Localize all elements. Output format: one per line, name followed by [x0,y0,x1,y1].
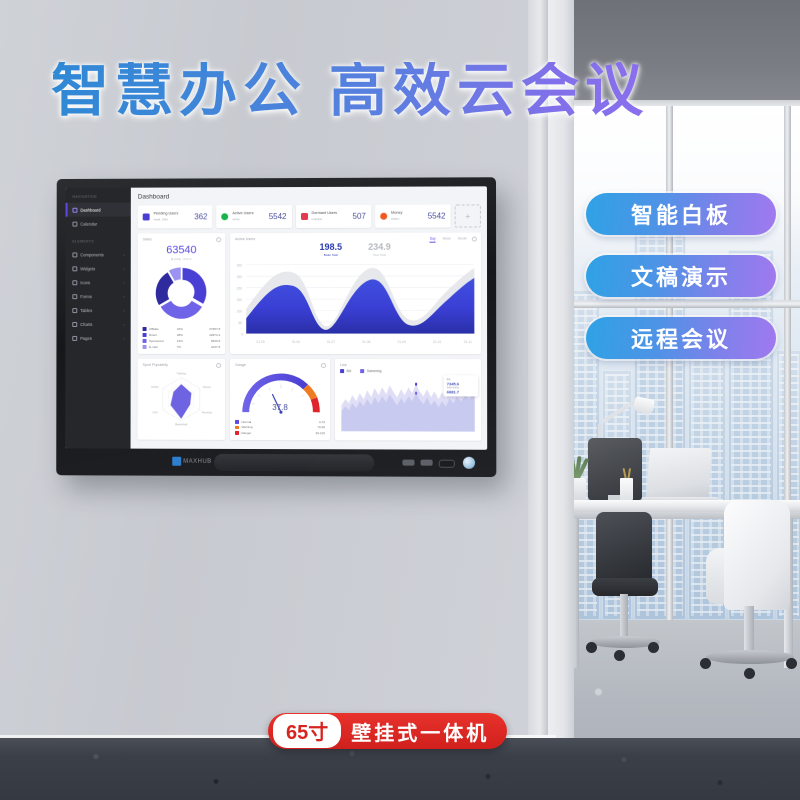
stat-sublabel: undefine [312,216,323,220]
legend-amount: 22874.4 [209,333,220,337]
stat-card-row: Pending Users Await. Offer 362 Active Us… [138,204,481,228]
usb-port-icon [402,460,414,466]
sidebar-item-label: Widgets [80,266,95,271]
pending-users-icon [143,213,150,220]
legend-label: Affiliate [149,327,177,331]
chair-caster [614,650,625,661]
legend-swatch [143,333,146,336]
stat-label: Money [391,211,402,215]
legend-amount: 4447.8 [211,345,220,349]
stat-value: 5542 [428,212,446,221]
svg-text:50: 50 [238,321,242,325]
sidebar-item-label: Components [80,252,103,257]
legend-label: Danger [241,431,251,435]
stat-value: 5542 [269,212,287,221]
dashboard-page-title: Dashboard [138,192,481,200]
gauge-value: 37.8 [230,403,330,412]
feature-pill-remote-meeting[interactable]: 远程会议 [586,317,776,359]
svg-text:01-08: 01-08 [362,340,370,344]
stat-label: Pending Users [154,212,179,216]
stat-sublabel: active [232,217,239,221]
legend-percent: 7% [177,345,193,349]
usb-port-icon [421,460,433,466]
svg-text:01-09: 01-09 [398,340,406,344]
kpi-boiler-total-value: 198.5 [319,243,342,252]
tab-week[interactable]: Week [443,237,451,243]
gear-icon[interactable] [216,237,221,242]
donut-subtitle: MORE INFO [143,257,221,261]
legend-amount: 8260.8 [211,339,220,343]
money-icon [380,213,387,220]
chevron-right-icon: › [123,280,124,285]
legend-swatch [360,369,364,373]
gear-icon[interactable] [472,237,477,242]
charts-icon [72,322,77,327]
svg-text:250: 250 [237,275,242,279]
components-icon [72,252,77,257]
legend-swatch [235,420,238,424]
chair-caster [744,668,755,679]
legend-swatch [143,327,146,330]
sidebar-item-dashboard[interactable]: Dashboard [66,203,131,217]
sidebar-item-pages[interactable]: Pages › [65,331,130,345]
sidebar-item-label: Forms [80,294,92,299]
sidebar-section-elements: ELEMENTS [65,239,130,247]
gear-icon[interactable] [321,363,326,368]
dashboard-app: NAVIGATION Dashboard Calendar ELEMENTS C… [65,186,487,449]
active-users-area-card: Active Users Day Week Month 198.5 Boil [230,233,481,355]
sidebar-item-label: Charts [80,322,92,327]
chair-caster [700,658,711,669]
legend-range: 70-90 [317,426,325,430]
sidebar-item-widgets[interactable]: Widgets › [65,261,130,275]
kpi-flow-total-value: 234.9 [368,243,391,252]
svg-text:01-10: 01-10 [433,340,441,344]
hdmi-port-icon [439,460,455,468]
office-chair-dark [596,512,652,582]
kpi-flow-total-label: Flow Total [368,253,391,257]
legend-range: 90-100 [316,431,325,435]
badge-type-label: 壁挂式一体机 [351,717,489,746]
tooltip-value-swimming: 6881.7 [447,389,475,394]
dashboard-main: Dashboard Pending Users Await. Offer 362 [131,186,488,449]
legend-range: 0-70 [319,420,325,424]
chevron-right-icon: › [123,308,124,313]
brand-logo-mark [172,457,181,466]
line-chart-card: Line Bid Swimming [335,359,481,440]
home-icon [72,207,77,212]
tv-screen: NAVIGATION Dashboard Calendar ELEMENTS C… [65,186,487,449]
gauge-card: Gauge [230,359,330,440]
stat-card-dormant-users[interactable]: Dormant Users undefine 507 [296,205,371,228]
svg-text:100: 100 [237,309,242,313]
chevron-right-icon: › [123,252,124,257]
stat-sublabel: dollars [391,216,399,220]
legend-percent: 13% [177,339,193,343]
pen-cup [620,478,633,500]
stat-label: Active Users [232,212,253,216]
product-size-badge: 65寸 壁挂式一体机 [268,713,507,749]
svg-text:Basketball: Basketball [175,422,187,426]
chart-tooltip: Bid 7345.6 Swimming 6881.7 [444,375,478,396]
card-title: Gauge [235,363,325,367]
office-chair-dark-post [620,594,628,642]
sport-popularity-radar-card: Sport Popularity [137,359,225,440]
tab-month[interactable]: Month [458,237,467,243]
svg-text:200: 200 [237,286,242,290]
page-title: 智慧办公 高效云会议 [0,62,700,120]
legend-label: Normal [242,420,252,424]
area-kpi-row: 198.5 Boiler Total 234.9 Flow Total [235,243,476,258]
brand-logo: MAXHUB [172,457,212,466]
stat-value: 507 [352,212,365,221]
svg-text:0: 0 [241,332,243,336]
gauge-legend: Normal 0-70 Warning 70-90 [235,419,325,436]
legend-item: Bid [340,369,351,373]
svg-text:01-06: 01-06 [292,340,300,344]
legend-amount: 27957.8 [209,327,220,331]
power-led-icon [463,457,475,469]
svg-text:300: 300 [237,263,242,267]
legend-label: Sponsored [149,339,177,343]
feature-pill-presentation[interactable]: 文稿演示 [586,255,776,297]
monitor [588,438,642,500]
active-users-area-chart: 300250200 150100500 01-0501-0601-07 01-0… [235,259,476,345]
dashboard-row-1: Sales 63540 MORE INFO [138,233,481,355]
sidebar-item-forms[interactable]: Forms › [65,289,130,303]
chevron-right-icon: › [123,294,124,299]
sidebar-item-label: Icons [80,280,90,285]
donut-center-value: 63540 [143,245,221,256]
feature-pill-whiteboard[interactable]: 智能白板 [586,193,776,235]
stat-card-active-users[interactable]: Active Users active 5542 [216,205,291,228]
svg-text:01-07: 01-07 [327,340,335,344]
office-chair-white-base [706,650,794,664]
svg-text:Training: Training [177,371,187,375]
svg-text:01-05: 01-05 [257,340,265,344]
chair-caster [648,642,659,653]
pages-icon [72,335,77,340]
tab-day[interactable]: Day [430,237,436,243]
svg-text:150: 150 [237,298,242,302]
brand-logo-text: MAXHUB [183,458,212,464]
legend-item: Swimming [360,369,381,373]
poster-stage: 智慧办公 高效云会议 智能白板 文稿演示 远程会议 NAVIGATION Das… [0,0,800,800]
legend-swatch [340,369,344,373]
sidebar-section-navigation: NAVIGATION [66,195,131,203]
chevron-right-icon: › [123,322,124,327]
calendar-icon [72,221,77,226]
sales-donut-chart [143,263,221,323]
legend-label: Warning [241,425,252,429]
laptop-screen [646,448,712,500]
legend-label: Bid [347,369,352,373]
forms-icon [72,294,77,299]
icons-icon [72,280,77,285]
donut-legend: Affiliate 44% 27957.8 Direct 38% 22874.4 [143,326,221,350]
active-users-icon [221,213,228,220]
sidebar-item-label: Calendar [80,221,97,226]
svg-text:Soccer: Soccer [203,385,211,389]
legend-item: E-mail 7% 4447.8 [143,344,221,350]
svg-text:Golf: Golf [153,410,158,414]
tv-bottom-bezel: MAXHUB [65,448,487,477]
sidebar-item-label: Tables [80,308,92,313]
line-chart-legend: Bid Swimming [340,369,476,373]
area-chart-tabs: Day Week Month [430,237,467,243]
legend-percent: 44% [177,327,193,331]
legend-item: Danger 90-100 [235,430,325,436]
office-chair-white [724,500,790,610]
legend-label: Direct [149,333,177,337]
stat-card-money[interactable]: Money dollars 5542 [375,205,451,228]
add-card-button[interactable]: + [455,204,481,227]
sidebar-item-label: Dashboard [80,207,100,212]
dashboard-row-2: Sport Popularity [137,359,481,441]
feature-pill-list: 智能白板 文稿演示 远程会议 [586,193,782,379]
speaker-grille [214,454,374,472]
svg-text:Hobby: Hobby [151,385,159,389]
chair-caster [786,658,797,669]
legend-swatch [235,426,238,430]
svg-text:01-11: 01-11 [464,340,472,344]
sidebar-item-label: Pages [80,335,92,340]
legend-swatch [143,345,146,348]
widgets-icon [72,266,77,271]
card-title: Line [340,363,476,367]
chair-caster [586,642,597,653]
sidebar-item-tables[interactable]: Tables › [65,303,130,317]
dormant-users-icon [301,213,308,220]
stat-value: 362 [194,212,207,221]
sidebar: NAVIGATION Dashboard Calendar ELEMENTS C… [65,188,131,449]
legend-percent: 38% [177,333,193,337]
legend-label: Swimming [367,369,382,373]
sidebar-item-calendar[interactable]: Calendar [66,217,131,231]
stat-sublabel: Await. Offer [154,217,168,221]
sidebar-item-components[interactable]: Components › [65,247,130,261]
legend-swatch [143,339,146,342]
sidebar-item-icons[interactable]: Icons › [65,275,130,289]
kpi-boiler-total-label: Boiler Total [319,253,342,257]
gear-icon[interactable] [216,363,221,368]
interactive-flat-panel: NAVIGATION Dashboard Calendar ELEMENTS C… [56,177,496,477]
card-title: Sport Popularity [143,363,221,367]
chevron-right-icon: › [123,266,124,271]
legend-swatch [235,431,238,435]
stat-card-pending-users[interactable]: Pending Users Await. Offer 362 [138,205,213,228]
badge-size-label: 65寸 [273,714,341,748]
tables-icon [72,308,77,313]
sport-popularity-radar-chart: Training Soccer Running Basketball Golf … [142,368,220,428]
legend-label: E-mail [149,345,177,349]
sidebar-item-charts[interactable]: Charts › [65,317,130,331]
svg-text:Running: Running [202,410,212,414]
card-title: Sales [143,237,221,241]
chevron-right-icon: › [123,335,124,340]
sales-donut-card: Sales 63540 MORE INFO [138,233,226,354]
stat-label: Dormant Users [312,211,338,215]
